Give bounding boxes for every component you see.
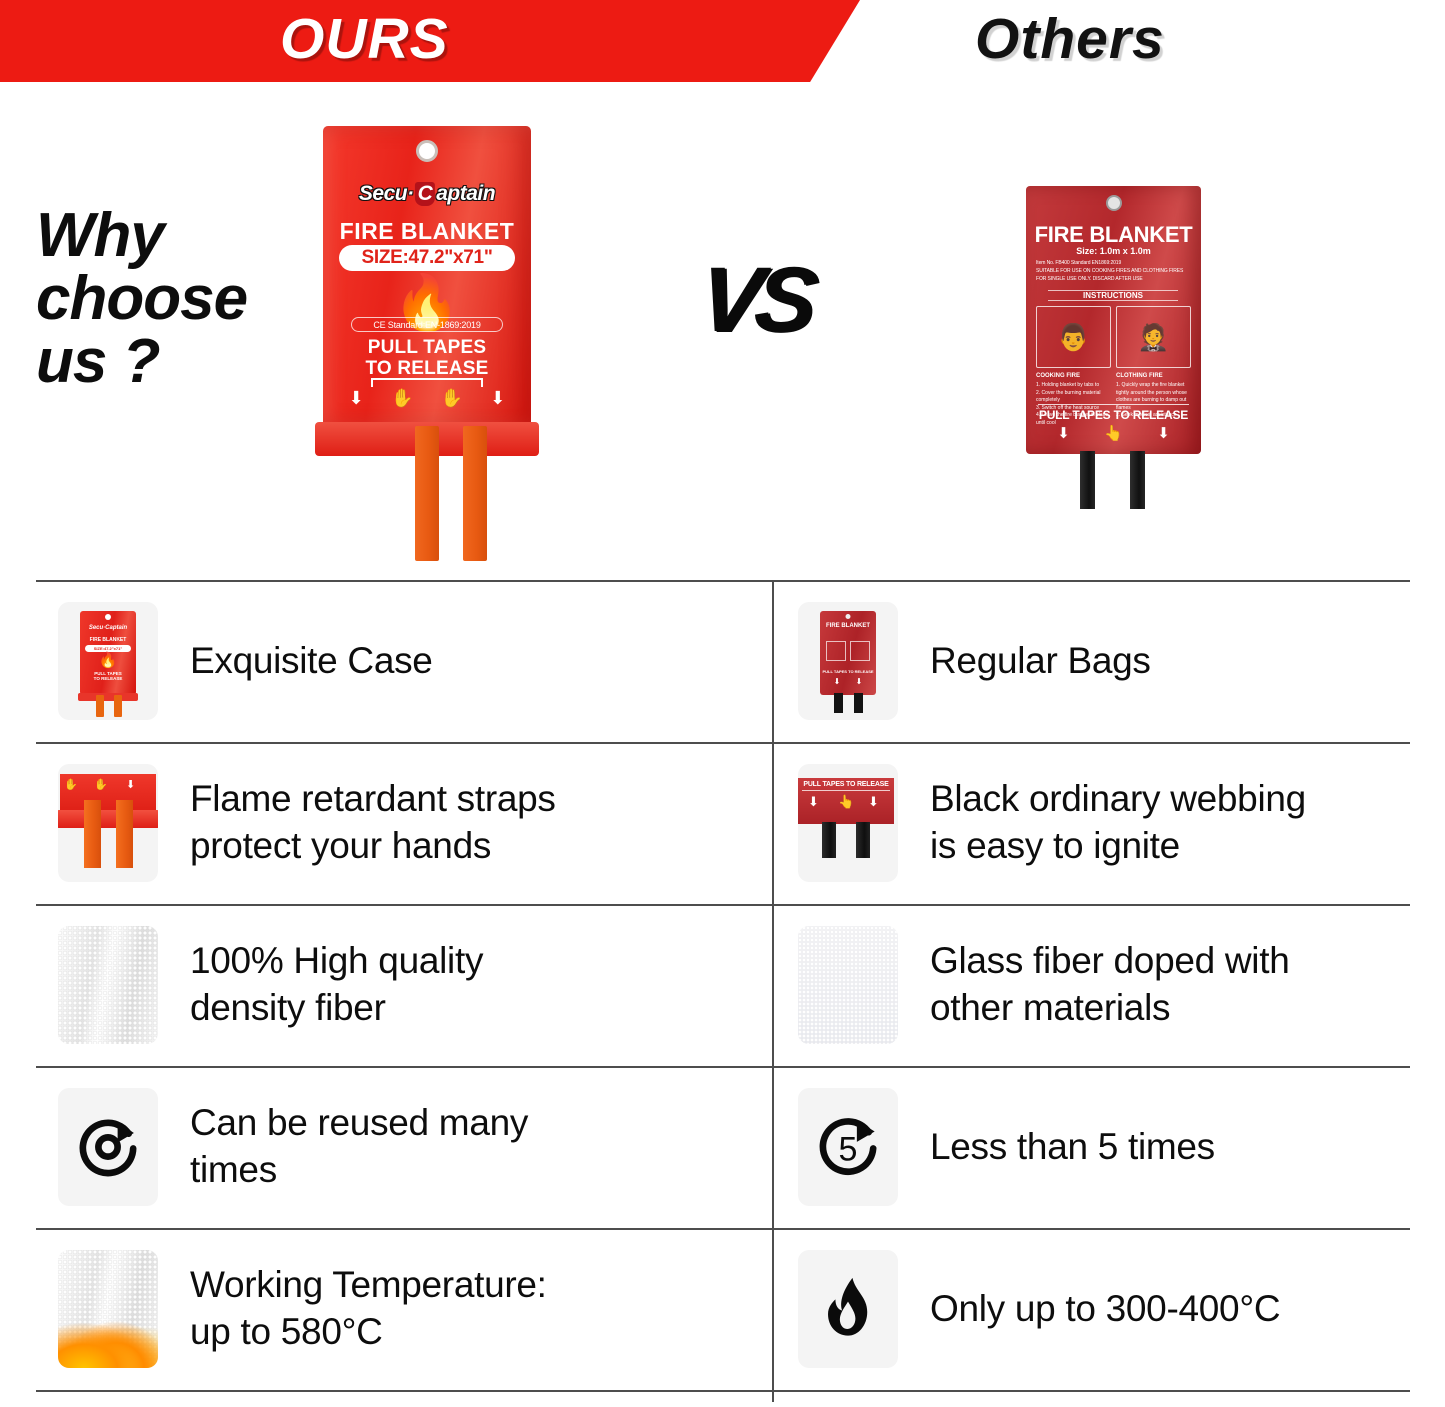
person-cooking-icon: 👨 [1057, 324, 1089, 350]
ours-arrow-row: ⬇ ✋ ✋ ⬇ [323, 388, 531, 409]
orange-strap [114, 695, 122, 717]
ours-package-thumbnail-icon: Secu·Captain FIRE BLANKET SIZE:47.2"x71"… [58, 602, 158, 720]
clothing-fire-title: CLOTHING FIRE [1116, 372, 1191, 381]
table-row: Can be reused manytimes 5 Less than 5 ti… [0, 1066, 1445, 1228]
straps-artwork: ✋ ✋ ⬇ [58, 764, 158, 882]
flame-icon: 🔥 [80, 653, 136, 668]
mini-product: FIRE BLANKET [820, 623, 876, 629]
down-arrow-icon: ⬇ [490, 388, 505, 409]
mini-size: SIZE:47.2"x71" [85, 645, 131, 652]
black-webbing-strap [1080, 451, 1095, 509]
instruction-panel-icon [850, 641, 870, 661]
clothing-fire-illustration: 🤵 [1116, 306, 1191, 368]
hand-pull-icon: ✋ [391, 388, 413, 409]
row-divider [774, 1390, 1410, 1392]
flame-icon [798, 1250, 898, 1368]
down-arrow-icon: ⬇ [349, 388, 364, 409]
black-webbing-strap [854, 693, 863, 713]
hang-hole-icon [846, 614, 851, 619]
hang-hole-icon [416, 140, 438, 162]
hand-pull-icon: ✋ [94, 778, 108, 791]
pull-tapes-label: PULL TAPES TO RELEASE [798, 781, 894, 788]
cooking-fire-title: COOKING FIRE [1036, 372, 1111, 381]
black-webbing-thumbnail-icon: PULL TAPES TO RELEASE ⬇ 👆 ⬇ [798, 764, 898, 882]
flame-overlay-icon [58, 1316, 158, 1368]
ours-package-body: Secu·Captain FIRE BLANKET SIZE:47.2"x71"… [323, 126, 531, 426]
webbing-artwork: PULL TAPES TO RELEASE ⬇ 👆 ⬇ [798, 764, 898, 882]
why-line-1: Why [36, 204, 247, 267]
ours-certification-label: CE Standard:EN-1869:2019 [351, 317, 503, 332]
feature-text: Flame retardant strapsprotect your hands [190, 776, 556, 870]
orange-strap [84, 800, 101, 868]
why-line-2: choose [36, 267, 247, 330]
others-cell: 5 Less than 5 times [790, 1066, 1430, 1228]
vs-badge: VS [694, 248, 816, 353]
why-line-3: us ? [36, 330, 247, 393]
hand-pull-icon: ✋ [441, 388, 463, 409]
feature-text: Only up to 300-400°C [930, 1286, 1280, 1333]
pull-line-2: TO RELEASE [323, 359, 531, 380]
fabric-texture [58, 1250, 158, 1368]
table-row: ✋ ✋ ⬇ Flame retardant strapsprotect your… [0, 742, 1445, 904]
reuse-cycle-icon [58, 1088, 158, 1206]
ours-product-name: FIRE BLANKET [323, 218, 531, 245]
orange-strap [463, 426, 487, 561]
fire-flame-icon [811, 1272, 885, 1346]
down-arrow-icon: ⬇ [126, 778, 135, 791]
table-row: 100% High qualitydensity fiber Glass fib… [0, 904, 1445, 1066]
hero-section: Why choose us ? Secu·Captain FIRE BLANKE… [0, 82, 1445, 574]
hang-hole-icon [1106, 195, 1122, 211]
fabric-texture [58, 926, 158, 1044]
orange-strap [415, 426, 439, 561]
instructions-heading: INSTRUCTIONS [1048, 290, 1178, 301]
other-arrow-row: ⬇ 👆 ⬇ [1026, 424, 1201, 442]
mini-package: Secu·Captain FIRE BLANKET SIZE:47.2"x71"… [80, 611, 136, 695]
ours-cell: 100% High qualitydensity fiber [36, 904, 772, 1066]
fabric-with-flame-thumbnail-icon [58, 1250, 158, 1368]
comparison-table: Secu·Captain FIRE BLANKET SIZE:47.2"x71"… [0, 574, 1445, 1407]
pull-line-1: PULL TAPES [323, 338, 531, 359]
orange-straps-thumbnail-icon: ✋ ✋ ⬇ [58, 764, 158, 882]
feature-text: Can be reused manytimes [190, 1100, 528, 1194]
down-arrow-icon: ⬇ [1157, 424, 1170, 442]
others-cell: FIRE BLANKET PULL TAPES TO RELEASE ⬇ ⬇ R… [790, 580, 1430, 742]
divider-line [1038, 404, 1189, 405]
others-cell: PULL TAPES TO RELEASE ⬇ 👆 ⬇ Black ordina… [790, 742, 1430, 904]
black-webbing-strap [822, 822, 836, 858]
other-meta-line-1: Item No. FB400 Standard EN1869:2019 [1036, 260, 1191, 268]
table-row: Working Temperature:up to 580°C Only up … [0, 1228, 1445, 1390]
fabric-texture [798, 926, 898, 1044]
black-webbing-strap [1130, 451, 1145, 509]
brand-suffix: aptain [436, 182, 495, 205]
table-bottom-border [0, 1390, 1445, 1392]
feature-text: Black ordinary webbingis easy to ignite [930, 776, 1306, 870]
black-webbing-strap [834, 693, 843, 713]
mini-pull: PULL TAPESTO RELEASE [80, 671, 136, 682]
other-size-label: Size: 1.0m x 1.0m [1026, 246, 1201, 256]
brand-logo: Secu·Captain [359, 182, 495, 206]
black-webbing-strap [856, 822, 870, 858]
person-wrapping-icon: 🤵 [1137, 324, 1169, 350]
feature-text: Working Temperature:up to 580°C [190, 1262, 547, 1356]
other-meta-line-2: SUITABLE FOR USE ON COOKING FIRES AND CL… [1036, 268, 1191, 276]
others-cell: Glass fiber doped withother materials [790, 904, 1430, 1066]
orange-strap [116, 800, 133, 868]
ours-cell: Secu·Captain FIRE BLANKET SIZE:47.2"x71"… [36, 580, 772, 742]
feature-text: Regular Bags [930, 638, 1151, 685]
feature-text: 100% High qualitydensity fiber [190, 938, 483, 1032]
down-arrow-icon: ⬇ [1057, 424, 1070, 442]
table-row: Secu·Captain FIRE BLANKET SIZE:47.2"x71"… [0, 580, 1445, 742]
hands-icon: 👆 [1104, 424, 1123, 442]
orange-strap [96, 695, 104, 717]
hang-hole-icon [105, 614, 111, 620]
brand-prefix: Secu· [359, 182, 414, 205]
header-ours-label: OURS [280, 0, 449, 82]
header-others-label: Others [975, 0, 1165, 82]
down-arrow-icon: ⬇ [834, 677, 841, 686]
feature-text: Glass fiber doped withother materials [930, 938, 1289, 1032]
row-divider [36, 1390, 772, 1392]
mini-arrow-row: ⬇ ⬇ [820, 677, 876, 686]
other-product-name: FIRE BLANKET [1026, 222, 1201, 248]
package-lip [58, 810, 158, 828]
mini-base [78, 693, 138, 701]
bracket-divider [371, 378, 483, 387]
other-pull-instruction: PULL TAPES TO RELEASE [1026, 408, 1201, 422]
brand-shield-icon: C [415, 182, 436, 206]
mini-other-package: FIRE BLANKET PULL TAPES TO RELEASE ⬇ ⬇ [820, 611, 876, 695]
ours-size-label: SIZE:47.2"x71" [339, 245, 515, 271]
divider-line [802, 790, 890, 791]
instruction-panel-icon [826, 641, 846, 661]
mini-brand: Secu·Captain [80, 625, 136, 631]
feature-text: Exquisite Case [190, 638, 433, 685]
ours-cell: Working Temperature:up to 580°C [36, 1228, 772, 1390]
white-weave-fabric-thumbnail-icon [58, 926, 158, 1044]
ours-product-package: Secu·Captain FIRE BLANKET SIZE:47.2"x71"… [323, 126, 538, 526]
header-banner: OURS Others [0, 0, 1445, 82]
reuse-arrow-icon [71, 1110, 145, 1184]
other-meta-line-3: FOR SINGLE USE ONLY. DISCARD AFTER USE [1036, 276, 1191, 284]
instruction-panels: 👨 🤵 [1036, 306, 1191, 368]
down-arrow-icon: ⬇ [808, 794, 819, 810]
svg-text:5: 5 [839, 1130, 858, 1168]
others-cell: Only up to 300-400°C [790, 1228, 1430, 1390]
comparison-infographic: OURS Others Why choose us ? Secu·Captain… [0, 0, 1445, 1407]
down-arrow-icon: ⬇ [856, 677, 863, 686]
feature-text: Less than 5 times [930, 1124, 1215, 1171]
glass-fiber-fabric-thumbnail-icon [798, 926, 898, 1044]
other-package-body: FIRE BLANKET Size: 1.0m x 1.0m Item No. … [1026, 186, 1201, 454]
other-meta-block: Item No. FB400 Standard EN1869:2019 SUIT… [1036, 260, 1191, 283]
hand-pull-icon: ✋ [64, 778, 78, 791]
ours-cell: Can be reused manytimes [36, 1066, 772, 1228]
down-arrow-icon: ⬇ [868, 794, 879, 810]
hands-icon: 👆 [838, 794, 854, 810]
reuse-arrow-five-icon: 5 [811, 1110, 885, 1184]
ours-cell: ✋ ✋ ⬇ Flame retardant strapsprotect your… [36, 742, 772, 904]
cooking-fire-illustration: 👨 [1036, 306, 1111, 368]
reuse-5-times-icon: 5 [798, 1088, 898, 1206]
mini-pull: PULL TAPES TO RELEASE [820, 669, 876, 674]
mini-product: FIRE BLANKET [80, 637, 136, 643]
other-package-thumbnail-icon: FIRE BLANKET PULL TAPES TO RELEASE ⬇ ⬇ [798, 602, 898, 720]
ours-pull-instruction: PULL TAPES TO RELEASE [323, 338, 531, 379]
why-choose-us-heading: Why choose us ? [36, 204, 247, 394]
other-product-package: FIRE BLANKET Size: 1.0m x 1.0m Item No. … [1026, 186, 1206, 516]
